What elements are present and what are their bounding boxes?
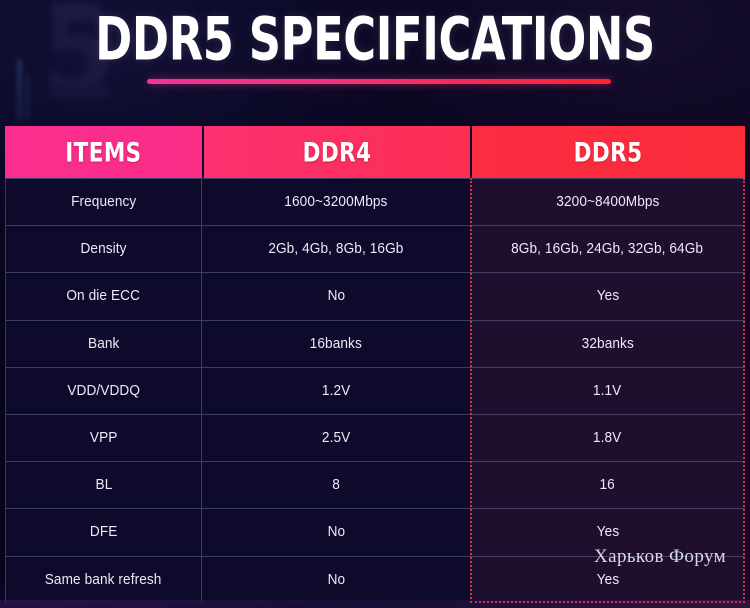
bottom-glow-strip: [0, 600, 750, 608]
row-ddr5-value: 8Gb, 16Gb, 24Gb, 32Gb, 64Gb: [470, 225, 745, 272]
cell-text: No: [327, 572, 345, 588]
row-ddr4-value: 16banks: [202, 320, 470, 367]
row-item-label: DFE: [5, 508, 202, 555]
row-item-label: Same bank refresh: [5, 556, 202, 603]
column-header-items-label: ITEMS: [65, 137, 141, 167]
table-row: VDD/VDDQ 1.2V 1.1V: [5, 367, 745, 414]
cell-text: Yes: [596, 524, 619, 540]
cell-text: Same bank refresh: [45, 572, 162, 588]
row-ddr5-value: Yes: [470, 272, 745, 319]
column-header-ddr5[interactable]: DDR5: [470, 126, 745, 178]
cell-text: Density: [80, 241, 126, 257]
cell-text: Yes: [596, 572, 619, 588]
specifications-table: ITEMS DDR4 DDR5 Frequency 1600~3200Mbps …: [5, 126, 745, 603]
column-header-ddr4-label: DDR4: [303, 137, 372, 167]
table-row: BL 8 16: [5, 461, 745, 508]
cell-text: 16banks: [310, 336, 362, 352]
row-ddr4-value: 8: [202, 461, 470, 508]
cell-text: Frequency: [71, 194, 136, 210]
cell-text: 32banks: [581, 336, 633, 352]
row-ddr4-value: 2.5V: [202, 414, 470, 461]
table-header-row: ITEMS DDR4 DDR5: [5, 126, 745, 178]
row-ddr5-value: 3200~8400Mbps: [470, 178, 745, 225]
page-title: DDR5 SPECIFICATIONS: [75, 3, 675, 78]
row-ddr5-value: 16: [470, 461, 745, 508]
table-row: Density 2Gb, 4Gb, 8Gb, 16Gb 8Gb, 16Gb, 2…: [5, 225, 745, 272]
row-ddr4-value: 1.2V: [202, 367, 470, 414]
row-item-label: BL: [5, 461, 202, 508]
row-ddr4-value: 2Gb, 4Gb, 8Gb, 16Gb: [202, 225, 470, 272]
column-header-items[interactable]: ITEMS: [5, 126, 202, 178]
title-area: DDR5 SPECIFICATIONS: [0, 0, 750, 118]
table-row: Frequency 1600~3200Mbps 3200~8400Mbps: [5, 178, 745, 225]
cell-text: BL: [95, 477, 112, 493]
column-header-ddr4[interactable]: DDR4: [202, 126, 470, 178]
cell-text: VPP: [90, 430, 118, 446]
table-row: Bank 16banks 32banks: [5, 320, 745, 367]
cell-text: No: [327, 288, 345, 304]
cell-text: 3200~8400Mbps: [556, 194, 659, 210]
table-row: On die ECC No Yes: [5, 272, 745, 319]
cell-text: 2.5V: [322, 430, 350, 446]
row-item-label: Bank: [5, 320, 202, 367]
row-ddr4-value: 1600~3200Mbps: [202, 178, 470, 225]
cell-text: DFE: [90, 524, 118, 540]
cell-text: 8: [332, 477, 340, 493]
row-item-label: Density: [5, 225, 202, 272]
cell-text: 16: [600, 477, 615, 493]
row-ddr5-value: 1.1V: [470, 367, 745, 414]
cell-text: 1600~3200Mbps: [284, 194, 387, 210]
cell-text: 1.2V: [322, 383, 350, 399]
column-header-ddr5-label: DDR5: [574, 137, 643, 167]
row-item-label: VPP: [5, 414, 202, 461]
title-underline: [147, 79, 611, 84]
row-ddr5-value: 32banks: [470, 320, 745, 367]
table-row: VPP 2.5V 1.8V: [5, 414, 745, 461]
cell-text: On die ECC: [67, 288, 141, 304]
cell-text: 2Gb, 4Gb, 8Gb, 16Gb: [268, 241, 403, 257]
cell-text: No: [327, 524, 345, 540]
row-item-label: VDD/VDDQ: [5, 367, 202, 414]
row-ddr4-value: No: [202, 508, 470, 555]
row-ddr4-value: No: [202, 272, 470, 319]
watermark: Харьков Форум: [594, 546, 726, 568]
cell-text: VDD/VDDQ: [67, 383, 140, 399]
cell-text: Yes: [596, 288, 619, 304]
row-ddr5-value: 1.8V: [470, 414, 745, 461]
cell-text: 1.1V: [593, 383, 621, 399]
row-item-label: Frequency: [5, 178, 202, 225]
cell-text: 1.8V: [593, 430, 621, 446]
cell-text: 8Gb, 16Gb, 24Gb, 32Gb, 64Gb: [512, 241, 704, 257]
infographic-stage: 5 DDR5 SPECIFICATIONS ITEMS DDR4 DDR5 Fr…: [0, 0, 750, 608]
row-ddr4-value: No: [202, 556, 470, 603]
cell-text: Bank: [88, 336, 119, 352]
row-item-label: On die ECC: [5, 272, 202, 319]
